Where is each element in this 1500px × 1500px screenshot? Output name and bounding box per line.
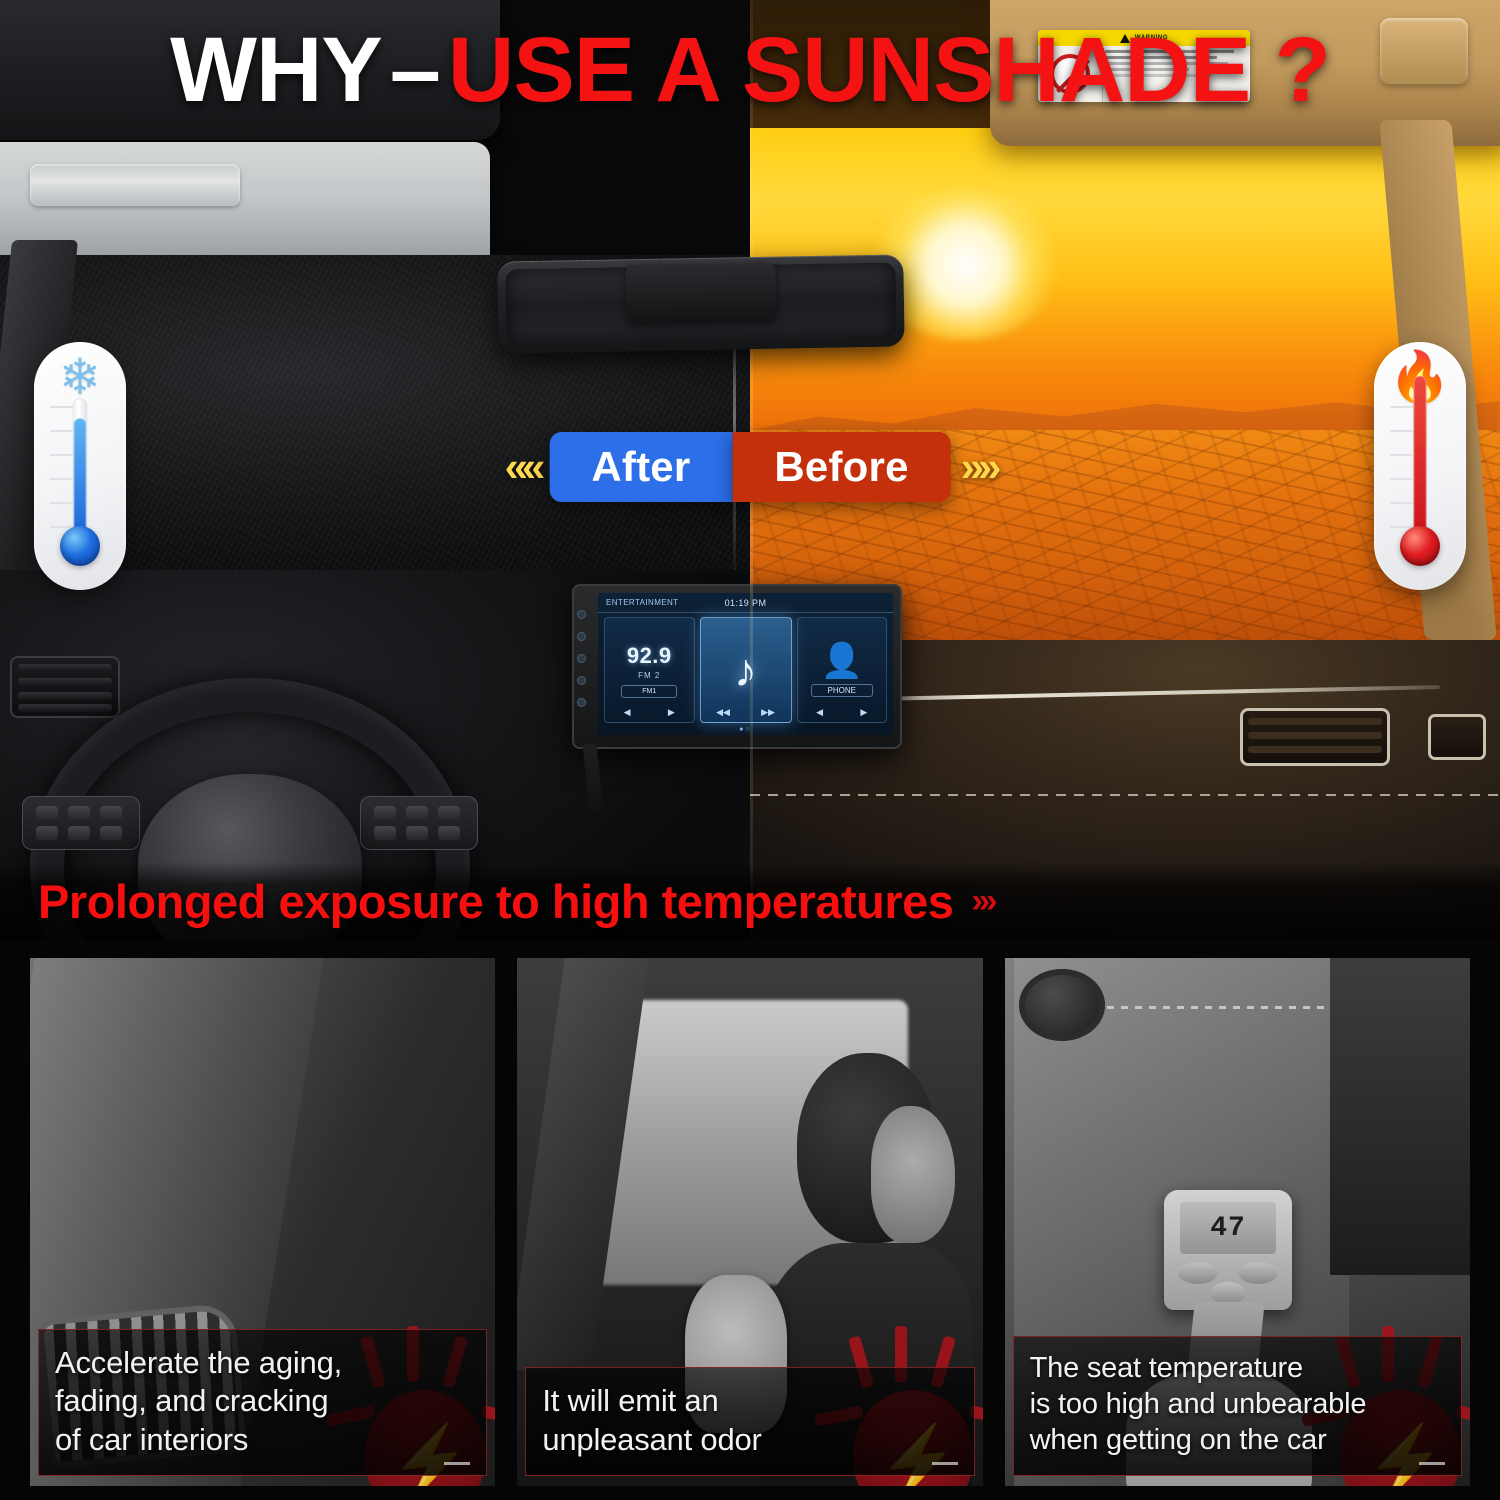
radio-controls[interactable]: ◀ ▶ bbox=[605, 707, 694, 718]
head-unit-side-buttons[interactable] bbox=[577, 610, 586, 707]
side-button-1[interactable] bbox=[577, 610, 586, 619]
prolonged-exposure-banner: Prolonged exposure to high temperatures … bbox=[0, 862, 1500, 940]
air-vent-right bbox=[1240, 708, 1390, 766]
title-dash: – bbox=[382, 19, 448, 121]
screen-status-bar: ENTERTAINMENT 01:19 PM bbox=[598, 593, 893, 613]
phone-prev-icon[interactable]: ◀ bbox=[816, 707, 823, 718]
person-icon: 👤 bbox=[821, 644, 863, 678]
radio-next-icon[interactable]: ▶ bbox=[668, 707, 675, 718]
gun-button-left bbox=[1178, 1262, 1218, 1284]
radio-band: FM 2 bbox=[638, 671, 660, 680]
screen-clock: 01:19 PM bbox=[725, 598, 767, 608]
radio-preset-chip[interactable]: FM1 bbox=[621, 685, 677, 698]
media-next-icon[interactable]: ▶▶ bbox=[761, 707, 775, 718]
after-badge[interactable]: After bbox=[549, 432, 732, 502]
right-chevrons-icon: »» bbox=[951, 443, 1006, 491]
banner-text: Prolonged exposure to high temperatures bbox=[38, 874, 953, 929]
title-word-red: USE A SUNSHADE ? bbox=[448, 19, 1330, 121]
phone-widget[interactable]: 👤 PHONE ◀ ▶ bbox=[797, 617, 888, 723]
left-chevrons-icon: «« bbox=[495, 443, 550, 491]
seat-headrest bbox=[1330, 958, 1470, 1275]
status-label: ENTERTAINMENT bbox=[606, 598, 678, 607]
hero-comparison-scene: WARNING bbox=[0, 0, 1500, 940]
side-button-4[interactable] bbox=[577, 676, 586, 685]
title-word-why: WHY bbox=[170, 19, 382, 121]
steering-wheel-left-controls bbox=[22, 796, 140, 850]
wristwatch bbox=[1019, 969, 1105, 1041]
infotainment-head-unit[interactable]: ENTERTAINMENT 01:19 PM 92.9 FM 2 FM1 ◀ ▶ bbox=[572, 584, 902, 749]
dashcam-module bbox=[625, 263, 776, 324]
infotainment-screen[interactable]: ENTERTAINMENT 01:19 PM 92.9 FM 2 FM1 ◀ ▶ bbox=[598, 593, 893, 735]
panel-caption: The seat temperature is too high and unb… bbox=[1013, 1336, 1462, 1476]
caption-underscore bbox=[932, 1462, 958, 1465]
consequence-panels-section: ⚡ Accelerate the aging, fading, and crac… bbox=[0, 940, 1500, 1500]
panel-interior-aging: ⚡ Accelerate the aging, fading, and crac… bbox=[30, 958, 495, 1486]
gun-button-right bbox=[1238, 1262, 1278, 1284]
infrared-thermometer-gun: 47 bbox=[1164, 1190, 1292, 1310]
snowflake-icon: ❄ bbox=[59, 352, 101, 402]
caption-line-1: The seat temperature bbox=[1030, 1351, 1445, 1387]
page-title: WHY–USE A SUNSHADE ? bbox=[0, 22, 1500, 119]
caption-underscore bbox=[444, 1462, 470, 1465]
product-infographic-page: WARNING bbox=[0, 0, 1500, 1500]
air-vent-far-right bbox=[1428, 714, 1486, 760]
steering-wheel-right-controls bbox=[360, 796, 478, 850]
phone-controls[interactable]: ◀ ▶ bbox=[798, 707, 887, 718]
side-button-3[interactable] bbox=[577, 654, 586, 663]
cold-thermometer-bulb bbox=[60, 526, 100, 566]
media-controls[interactable]: ◀◀ ▶▶ bbox=[701, 707, 791, 718]
panel-caption: It will emit an unpleasant odor bbox=[525, 1367, 974, 1476]
hot-thermometer: 🔥 bbox=[1374, 342, 1466, 590]
panel-row: ⚡ Accelerate the aging, fading, and crac… bbox=[30, 958, 1470, 1486]
media-prev-icon[interactable]: ◀◀ bbox=[716, 707, 730, 718]
caption-line-2: fading, and cracking bbox=[55, 1382, 470, 1420]
radio-frequency: 92.9 bbox=[627, 643, 672, 669]
screen-widget-row: 92.9 FM 2 FM1 ◀ ▶ ♪ ◀◀ ▶▶ bbox=[604, 617, 887, 723]
side-button-2[interactable] bbox=[577, 632, 586, 641]
banner-arrows-icon: ››› bbox=[971, 882, 993, 921]
before-after-toggle[interactable]: «« After Before »» bbox=[495, 432, 1006, 502]
media-widget[interactable]: ♪ ◀◀ ▶▶ bbox=[700, 617, 792, 723]
caption-line-1: It will emit an bbox=[542, 1382, 957, 1420]
caption-line-2: unpleasant odor bbox=[542, 1421, 957, 1459]
hot-thermometer-mercury bbox=[1414, 376, 1427, 544]
caption-underscore bbox=[1419, 1462, 1445, 1465]
radio-prev-icon[interactable]: ◀ bbox=[624, 707, 631, 718]
rearview-mirror bbox=[497, 254, 905, 353]
thermometer-reading: 47 bbox=[1180, 1202, 1276, 1254]
man-face bbox=[871, 1106, 955, 1243]
phone-next-icon[interactable]: ▶ bbox=[860, 707, 867, 718]
cold-thermometer: ❄ bbox=[34, 342, 126, 590]
side-button-5[interactable] bbox=[577, 698, 586, 707]
head-unit-mount bbox=[572, 744, 902, 814]
caption-line-3: of car interiors bbox=[55, 1421, 470, 1459]
gun-button-center bbox=[1210, 1282, 1246, 1304]
caption-line-2: is too high and unbearable bbox=[1030, 1387, 1445, 1423]
phone-chip[interactable]: PHONE bbox=[811, 684, 873, 697]
music-note-icon: ♪ bbox=[734, 647, 757, 693]
panel-odor: ⚡ It will emit an unpleasant odor bbox=[517, 958, 982, 1486]
panel-caption: Accelerate the aging, fading, and cracki… bbox=[38, 1329, 487, 1476]
caption-line-3: when getting on the car bbox=[1030, 1423, 1445, 1459]
panel-seat-temperature: 47 ⚡ The seat temperature is too high bbox=[1005, 958, 1470, 1486]
before-badge[interactable]: Before bbox=[732, 432, 950, 502]
radio-widget[interactable]: 92.9 FM 2 FM1 ◀ ▶ bbox=[604, 617, 695, 723]
hot-thermometer-bulb bbox=[1400, 526, 1440, 566]
caption-line-1: Accelerate the aging, bbox=[55, 1344, 470, 1382]
